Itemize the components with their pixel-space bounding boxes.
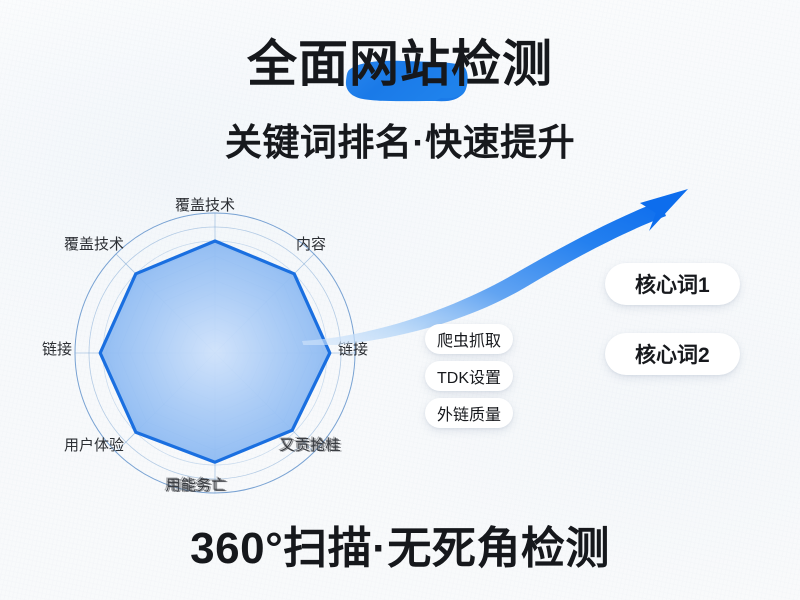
radar-chart: 覆盖技术 内容 链接 又贡抢桂 用能务亡 用户体验 链接 覆盖技术 — [40, 193, 390, 513]
footline-row: 360°扫描·无死角检测 — [0, 520, 800, 578]
keyword-pill-1[interactable]: 核心词1 — [605, 263, 740, 305]
subtitle-row: 关键词排名·快速提升 — [0, 118, 800, 168]
radar-label-bottom-right: 又贡抢桂 — [279, 436, 340, 455]
poster-canvas: 全面网站检测 关键词排名·快速提升 — [0, 0, 800, 600]
radar-label-left: 链接 — [42, 340, 72, 359]
keyword-pill-2-label: 核心词2 — [635, 339, 710, 369]
feature-pill-crawl[interactable]: 爬虫抓取 — [425, 324, 513, 354]
page-title: 全面网站检测 — [247, 34, 553, 94]
feature-pill-backlink-label: 外链质量 — [437, 401, 501, 425]
title-row: 全面网站检测 — [0, 34, 800, 94]
feature-pill-crawl-label: 爬虫抓取 — [437, 327, 501, 351]
radar-label-right: 链接 — [338, 340, 368, 359]
radar-label-top-left: 覆盖技术 — [64, 235, 124, 254]
feature-pill-tdk-label: TDK设置 — [437, 364, 501, 388]
radar-label-bottom: 用能务亡 — [165, 476, 226, 495]
radar-label-top-right: 内容 — [296, 235, 326, 254]
radar-label-top: 覆盖技术 — [175, 196, 235, 215]
feature-pill-backlink[interactable]: 外链质量 — [425, 398, 513, 428]
radar-label-bottom-left: 用户体验 — [64, 436, 124, 455]
feature-pill-tdk[interactable]: TDK设置 — [425, 361, 513, 391]
keyword-pill-1-label: 核心词1 — [635, 269, 710, 299]
page-footline: 360°扫描·无死角检测 — [190, 520, 610, 578]
page-subtitle: 关键词排名·快速提升 — [225, 118, 575, 168]
keyword-pill-2[interactable]: 核心词2 — [605, 333, 740, 375]
